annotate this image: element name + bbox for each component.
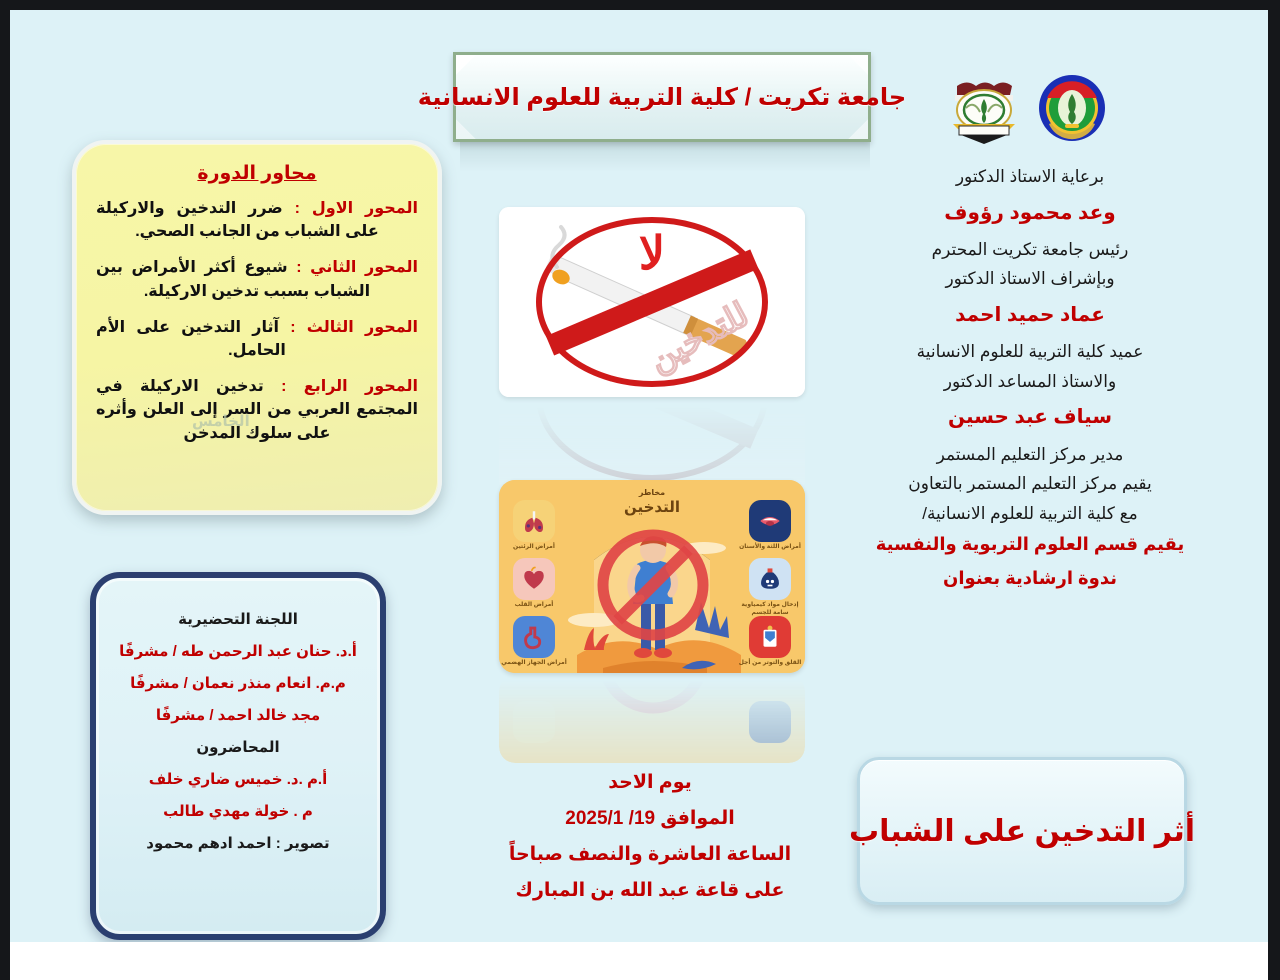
- info-line: عميد كلية التربية للعلوم الانسانية: [870, 337, 1190, 367]
- seminar-title-box: أثر التدخين على الشباب: [857, 757, 1187, 905]
- info-line: وبإشراف الاستاذ الدكتور: [870, 264, 1190, 294]
- mouth-teeth-icon: [749, 500, 791, 542]
- lungs-caption: أمراض الرئتين: [499, 544, 569, 552]
- topic-label: المحور الثاني :: [296, 259, 418, 276]
- committee-box: اللجنة التحضيرية أ.د. حنان عبد الرحمن طه…: [90, 572, 386, 940]
- svg-text:لا: لا: [639, 227, 665, 279]
- event-day: يوم الاحد: [460, 765, 840, 801]
- topic-label: المحور الثالث :: [290, 319, 418, 336]
- committee-member: أ.د. حنان عبد الرحمن طه / مشرفًا: [108, 636, 368, 668]
- right-info-column: برعاية الاستاذ الدكتور وعد محمود رؤوف رئ…: [870, 162, 1190, 595]
- topic-item: المحور الاول : ضرر التدخين والاركيلة على…: [96, 197, 418, 243]
- info-line: مدير مركز التعليم المستمر: [870, 440, 1190, 470]
- event-location: على قاعة عبد الله بن المبارك: [460, 873, 840, 909]
- poster-canvas: جامعة تكريت / كلية التربية للعلوم الانسا…: [10, 10, 1268, 942]
- topics-ghost-text: الخامس: [192, 412, 250, 430]
- committee-heading: اللجنة التحضيرية: [108, 604, 368, 636]
- no-smoking-reflection: [499, 399, 805, 491]
- info-line: يقيم مركز التعليم المستمر بالتعاون: [870, 469, 1190, 499]
- no-smoking-sign-card: لا للتدخين: [499, 207, 805, 397]
- toxic-bottle-caption: إدخال مواد كيمياوية سامة للجسم: [735, 602, 805, 617]
- toxic-bottle-icon: [749, 558, 791, 600]
- seminar-title-text: أثر التدخين على الشباب: [849, 814, 1195, 849]
- topic-item: المحور الثاني : شيوع أكثر الأمراض بين ال…: [96, 256, 418, 302]
- poster-frame: جامعة تكريت / كلية التربية للعلوم الانسا…: [0, 0, 1280, 980]
- supervisor-name: عماد حميد احمد: [870, 294, 1190, 337]
- event-time: الساعة العاشرة والنصف صباحاً: [460, 837, 840, 873]
- heart-icon: [513, 558, 555, 600]
- lecturer-name: أ.م .د. خميس ضاري خلف: [108, 764, 368, 796]
- topic-label: المحور الرابع :: [281, 378, 418, 395]
- committee-member: م.م. انعام منذر نعمان / مشرفًا: [108, 668, 368, 700]
- lecturer-name: م . خولة مهدي طالب: [108, 796, 368, 828]
- photographer-credit: تصوير : احمد ادهم محمود: [108, 828, 368, 860]
- seminar-subtitle: ندوة ارشادية بعنوان: [870, 562, 1190, 595]
- bottom-white-strip: [10, 942, 1268, 980]
- stomach-icon: [513, 616, 555, 658]
- header-banner-text: جامعة تكريت / كلية التربية للعلوم الانسا…: [418, 83, 906, 112]
- sponsor-name: وعد محمود رؤوف: [870, 192, 1190, 235]
- logo-row: [930, 66, 1125, 148]
- organizing-department: يقيم قسم العلوم التربوية والنفسية: [870, 528, 1190, 561]
- topic-body: آثار التدخين على الأم الحامل.: [96, 319, 286, 359]
- event-date: الموافق 19/ 2025/1: [460, 801, 840, 837]
- smoking-dangers-infographic: مخاطر التدخين أمراض الرئتين: [499, 480, 805, 673]
- clipboard-caption: القلق والتوتر من أجل: [735, 660, 805, 668]
- committee-member: مجد خالد احمد / مشرفًا: [108, 700, 368, 732]
- infographic-reflection: [499, 675, 805, 763]
- info-line: برعاية الاستاذ الدكتور: [870, 162, 1190, 192]
- topic-item: المحور الثالث : آثار التدخين على الأم ال…: [96, 316, 418, 362]
- info-line: رئيس جامعة تكريت المحترم: [870, 235, 1190, 265]
- topic-item: المحور الرابع : تدخين الاركيلة في المجتم…: [96, 375, 418, 445]
- heart-caption: أمراض القلب: [499, 602, 569, 610]
- infographic-title-small: مخاطر: [499, 488, 805, 497]
- lungs-icon: [513, 500, 555, 542]
- header-banner-shadow: [460, 142, 870, 172]
- event-details: يوم الاحد الموافق 19/ 2025/1 الساعة العا…: [460, 765, 840, 909]
- info-line: مع كلية التربية للعلوم الانسانية/: [870, 499, 1190, 529]
- course-topics-box: محاور الدورة المحور الاول : ضرر التدخين …: [72, 140, 442, 515]
- lecturers-heading: المحاضرون: [108, 732, 368, 764]
- college-crest-logo: [947, 68, 1021, 146]
- header-banner: جامعة تكريت / كلية التربية للعلوم الانسا…: [453, 52, 871, 142]
- info-line: والاستاذ المساعد الدكتور: [870, 367, 1190, 397]
- stomach-caption: أمراض الجهاز الهضمي: [499, 660, 569, 668]
- clipboard-icon: [749, 616, 791, 658]
- topics-title: محاور الدورة: [96, 162, 418, 185]
- mouth-teeth-caption: أمراض اللثة والأسنان: [735, 544, 805, 552]
- center-director-name: سياف عبد حسين: [870, 396, 1190, 439]
- topic-label: المحور الاول :: [295, 200, 418, 217]
- tikrit-university-logo: [1035, 68, 1109, 146]
